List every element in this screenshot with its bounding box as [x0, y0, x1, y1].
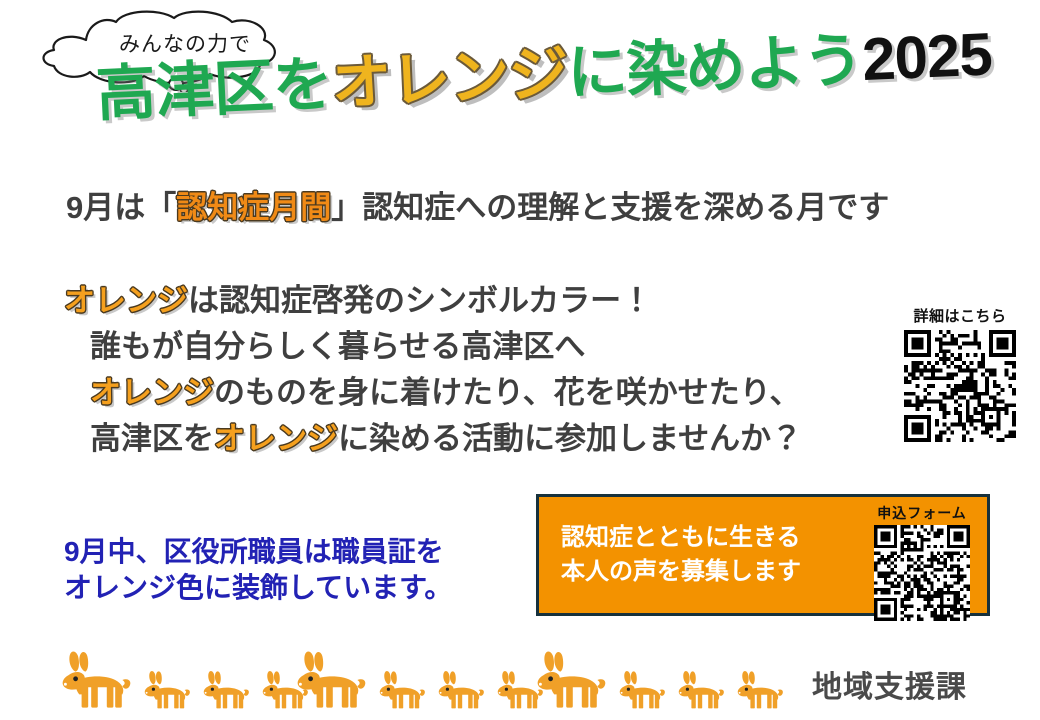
- body-line-3: オレンジのものを身に着けたり、花を咲かせたり、: [64, 370, 802, 416]
- staff-id-note-line-2: オレンジ色に装飾しています。: [64, 570, 452, 606]
- details-qr-caption: 詳細はこちら: [898, 305, 1022, 326]
- department-label: 地域支援課: [812, 662, 967, 706]
- title-segment-year: 2025: [861, 21, 993, 93]
- donkey-icon: [437, 670, 486, 710]
- body-line-2: 誰もが自分らしく暮らせる高津区へ: [64, 324, 802, 370]
- title-segment-green-1: 高津区を: [95, 51, 334, 128]
- subheading-highlight: 認知症月間: [176, 190, 331, 225]
- application-qr-caption: 申込フォーム: [867, 503, 977, 523]
- body-line-4-before: 高津区を: [90, 421, 214, 456]
- donkey-icon: [677, 670, 726, 710]
- donkey-group-1: [60, 650, 310, 710]
- body-line-4: 高津区をオレンジに染める活動に参加しませんか？: [64, 416, 802, 462]
- staff-id-note-line-1: 9月中、区役所職員は職員証を: [64, 534, 452, 570]
- donkey-icon: [535, 650, 608, 710]
- callout-message: 認知症とともに生きる 本人の声を募集します: [561, 521, 801, 589]
- body-line-1-rest: は認知症啓発のシンボルカラー！: [188, 283, 652, 318]
- donkey-icon: [60, 650, 133, 710]
- subheading-prefix: 9月は「: [66, 190, 176, 225]
- donkey-icon: [202, 670, 251, 710]
- application-callout-box: 認知症とともに生きる 本人の声を募集します 申込フォーム: [536, 494, 990, 616]
- callout-message-line-1: 認知症とともに生きる: [561, 521, 801, 555]
- donkey-icon: [143, 670, 192, 710]
- subheading: 9月は「認知症月間」認知症への理解と支援を深める月です: [66, 182, 889, 227]
- title-segment-orange: オレンジ: [330, 41, 569, 118]
- details-qr-code[interactable]: [904, 330, 1016, 442]
- callout-message-line-2: 本人の声を募集します: [561, 555, 801, 589]
- application-qr-code[interactable]: [874, 525, 970, 621]
- donkey-icon: [378, 670, 427, 710]
- subheading-suffix: 」認知症への理解と支援を深める月です: [331, 190, 889, 225]
- donkey-group-3: [535, 650, 785, 710]
- title-segment-green-2: に染めよう: [566, 27, 864, 106]
- body-line-1: オレンジは認知症啓発のシンボルカラー！: [64, 278, 802, 324]
- donkey-icon: [295, 650, 368, 710]
- poster-canvas: みんなの力で 高津区をオレンジに染めよう2025 9月は「認知症月間」認知症への…: [0, 0, 1040, 720]
- body-line-1-highlight: オレンジ: [64, 283, 188, 318]
- donkey-icon: [618, 670, 667, 710]
- application-qr-block[interactable]: 申込フォーム: [867, 503, 977, 621]
- body-line-3-rest: のものを身に着けたり、花を咲かせたり、: [214, 375, 801, 410]
- donkey-herd-strip: [60, 638, 760, 710]
- donkey-group-2: [295, 650, 545, 710]
- details-qr-block[interactable]: 詳細はこちら: [898, 305, 1022, 442]
- body-text: オレンジは認知症啓発のシンボルカラー！ 誰もが自分らしく暮らせる高津区へ オレン…: [64, 278, 802, 462]
- body-line-4-after: に染める活動に参加しませんか？: [338, 421, 802, 456]
- body-line-4-highlight: オレンジ: [214, 421, 338, 456]
- donkey-icon: [736, 670, 785, 710]
- body-line-3-highlight: オレンジ: [90, 375, 214, 410]
- staff-id-note: 9月中、区役所職員は職員証を オレンジ色に装飾しています。: [64, 534, 452, 606]
